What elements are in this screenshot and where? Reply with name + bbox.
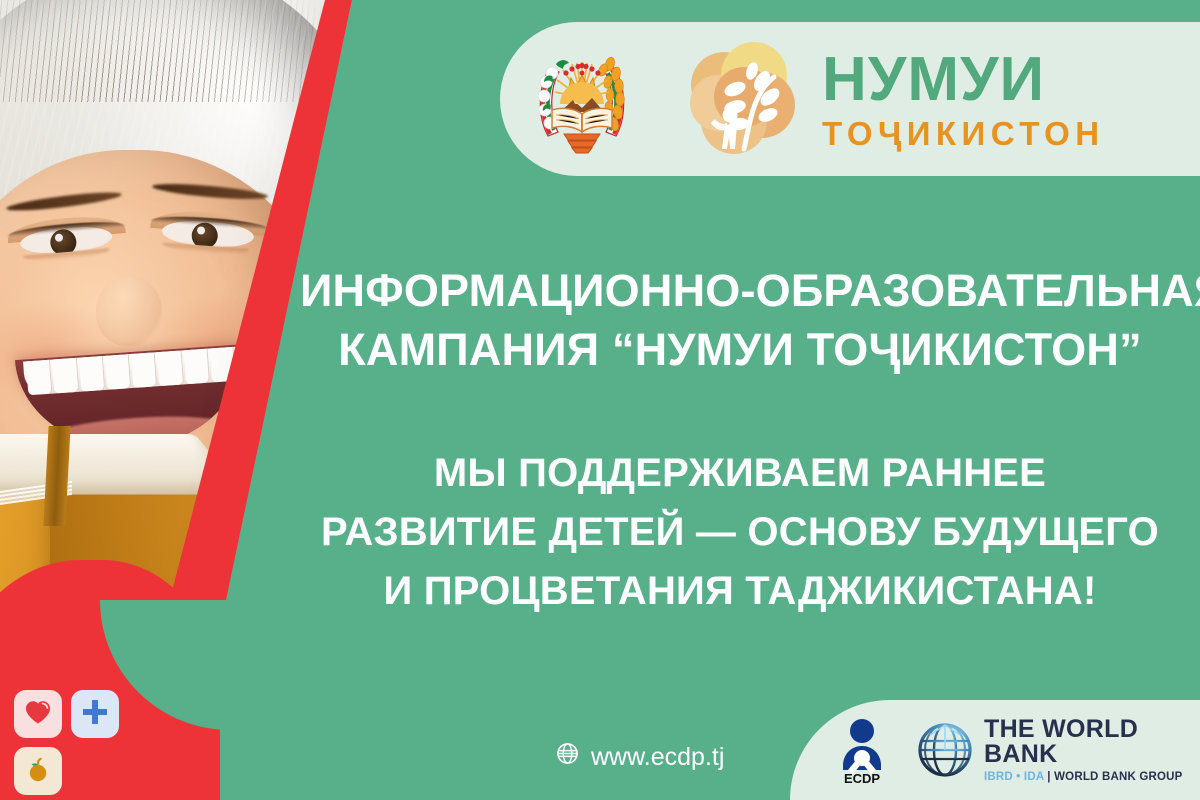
world-bank-divider: | bbox=[1044, 771, 1054, 783]
footer-logo-panel: ECDP bbox=[790, 700, 1200, 800]
subheading: МЫ ПОДДЕРЖИВАЕМ РАННЕЕ РАЗВИТИЕ ДЕТЕЙ — … bbox=[300, 444, 1180, 622]
globe-icon bbox=[556, 742, 579, 772]
fruit-icon bbox=[24, 755, 52, 788]
tile-heart[interactable] bbox=[14, 690, 62, 738]
subheading-line-2: РАЗВИТИЕ ДЕТЕЙ — ОСНОВУ БУДУЩЕГО bbox=[300, 503, 1180, 562]
world-bank-group: WORLD BANK GROUP bbox=[1054, 771, 1182, 783]
numui-tree-logo-icon bbox=[678, 37, 802, 161]
world-bank-title: THE WORLD BANK bbox=[984, 717, 1200, 767]
poster-root: НУМУИ ТОҶИКИСТОН ИНФОРМАЦИОННО-ОБРАЗОВАТ… bbox=[0, 0, 1200, 800]
headline-line-1: ИНФОРМАЦИОННО-ОБРАЗОВАТЕЛЬНАЯ bbox=[300, 262, 1180, 321]
top-logo-bar: НУМУИ ТОҶИКИСТОН bbox=[500, 22, 1200, 176]
ecdp-logo-icon: ECDP bbox=[826, 714, 898, 786]
brand-text: НУМУИ ТОҶИКИСТОН bbox=[822, 49, 1105, 150]
tajikistan-coat-of-arms-icon bbox=[530, 42, 634, 156]
ecdp-label: ECDP bbox=[844, 771, 880, 786]
brand-line-1: НУМУИ bbox=[822, 49, 1105, 111]
website-url-text: www.ecdp.tj bbox=[591, 743, 724, 772]
plus-icon bbox=[81, 698, 109, 731]
world-bank-logo: THE WORLD BANK IBRD • IDA | WORLD BANK G… bbox=[916, 717, 1200, 784]
subheading-line-1: МЫ ПОДДЕРЖИВАЕМ РАННЕЕ bbox=[300, 444, 1180, 503]
headline-line-2: КАМПАНИЯ “НУМУИ ТОҶИКИСТОН” bbox=[300, 321, 1180, 380]
heart-icon bbox=[24, 699, 52, 730]
icon-tile-grid bbox=[14, 690, 119, 795]
world-bank-text: THE WORLD BANK IBRD • IDA | WORLD BANK G… bbox=[984, 717, 1200, 784]
world-bank-subtitle: IBRD • IDA | WORLD BANK GROUP bbox=[984, 772, 1200, 784]
subheading-line-3: И ПРОЦВЕТАНИЯ ТАДЖИКИСТАНА! bbox=[300, 562, 1180, 621]
tile-fruit[interactable] bbox=[14, 747, 62, 795]
page-title: ИНФОРМАЦИОННО-ОБРАЗОВАТЕЛЬНАЯ КАМПАНИЯ “… bbox=[300, 262, 1180, 379]
brand-line-2: ТОҶИКИСТОН bbox=[822, 117, 1105, 150]
website-link[interactable]: www.ecdp.tj bbox=[556, 742, 724, 772]
world-bank-ibrd-ida: IBRD • IDA bbox=[984, 771, 1044, 783]
tile-plus[interactable] bbox=[71, 690, 119, 738]
world-bank-globe-icon bbox=[916, 721, 974, 779]
